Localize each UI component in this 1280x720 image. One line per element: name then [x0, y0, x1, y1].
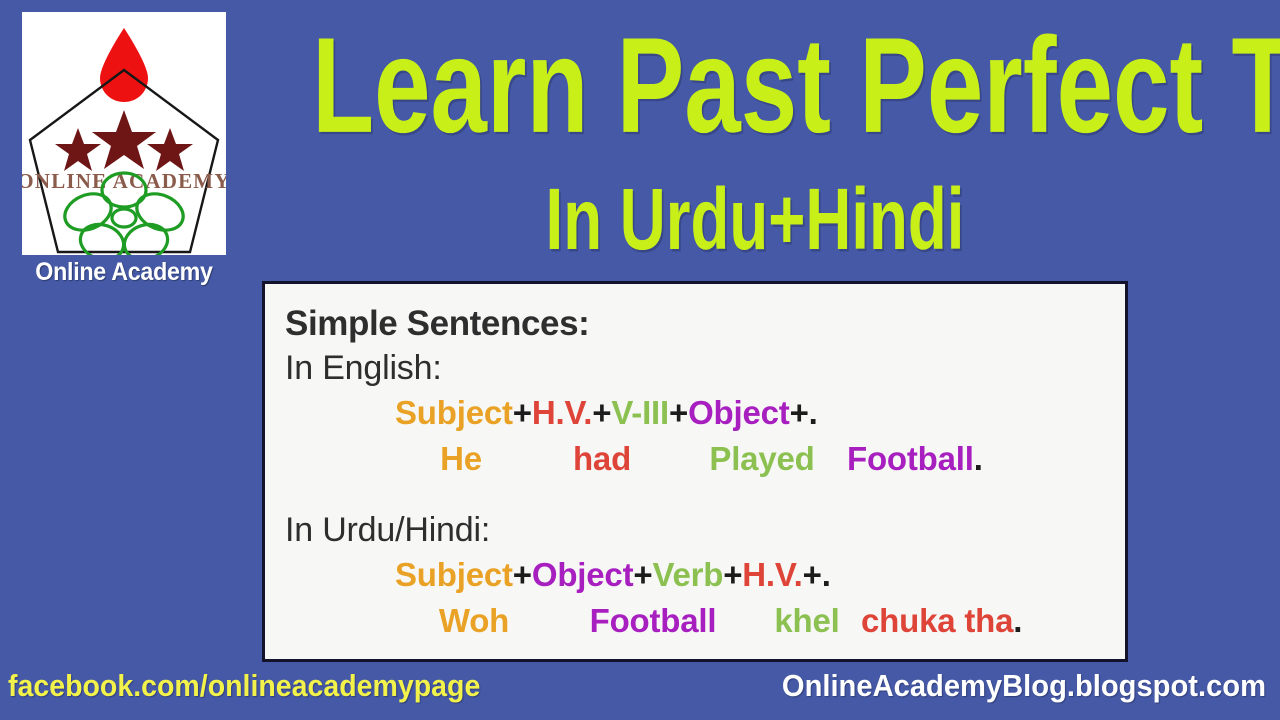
- formula-plus: +: [513, 556, 532, 593]
- example-word-object: Football: [847, 440, 974, 477]
- english-formula-row: Subject+H.V.+V-III+Object+.: [285, 390, 1105, 436]
- formula-plus: +: [513, 394, 532, 431]
- formula-plus: +: [633, 556, 652, 593]
- academy-emblem-icon: ONLINE ACADEMY: [22, 12, 226, 255]
- page-title: Learn Past Perfect Tense: [312, 18, 1198, 154]
- lesson-heading: Simple Sentences:: [285, 302, 1105, 346]
- formula-plus: +: [669, 394, 688, 431]
- formula-part-object: Object: [532, 556, 634, 593]
- english-example-row: HehadPlayedFootball.: [285, 436, 1105, 482]
- lesson-content-card: Simple Sentences: In English: Subject+H.…: [262, 281, 1128, 662]
- headline-block: Learn Past Perfect Tense In Urdu+Hindi: [240, 10, 1280, 280]
- formula-part-hv: H.V.: [532, 394, 592, 431]
- example-word-object: Football: [553, 598, 753, 644]
- formula-plus: +: [723, 556, 742, 593]
- example-word-verb: Played: [677, 436, 847, 482]
- example-word-hv: chuka tha: [861, 602, 1013, 639]
- urdu-hindi-example-row: WohFootballkhelchuka tha.: [285, 598, 1105, 644]
- formula-part-verb: V-III: [611, 394, 669, 431]
- formula-part-hv: H.V.: [742, 556, 802, 593]
- example-word-subject: Woh: [395, 598, 553, 644]
- formula-part-subject: Subject: [395, 394, 513, 431]
- formula-part-verb: Verb: [652, 556, 723, 593]
- blog-site-link[interactable]: OnlineAcademyBlog.blogspot.com: [782, 668, 1266, 704]
- brand-logo-block: ONLINE ACADEMY Online Academy: [0, 0, 248, 305]
- example-word-hv: had: [527, 436, 677, 482]
- star-group-icon: [55, 110, 193, 171]
- formula-part-object: Object: [688, 394, 790, 431]
- facebook-page-link[interactable]: facebook.com/onlineacademypage: [8, 668, 480, 704]
- example-word-verb: khel: [753, 598, 861, 644]
- example-word-subject: He: [395, 436, 527, 482]
- section-spacer: [285, 482, 1105, 508]
- brand-name-label: Online Academy: [9, 258, 240, 287]
- formula-part-subject: Subject: [395, 556, 513, 593]
- poster-canvas: ONLINE ACADEMY Online Academy Learn Past…: [0, 0, 1280, 720]
- formula-terminator: +.: [790, 394, 818, 431]
- formula-plus: +: [592, 394, 611, 431]
- blood-drop-icon: [100, 28, 148, 102]
- urdu-hindi-formula-row: Subject+Object+Verb+H.V.+.: [285, 552, 1105, 598]
- urdu-hindi-section-label: In Urdu/Hindi:: [285, 508, 1105, 552]
- page-subtitle: In Urdu+Hindi: [312, 176, 1198, 263]
- logo-white-card: ONLINE ACADEMY: [22, 12, 226, 255]
- formula-terminator: +.: [803, 556, 831, 593]
- example-period: .: [974, 440, 983, 477]
- english-section-label: In English:: [285, 346, 1105, 390]
- example-period: .: [1013, 602, 1022, 639]
